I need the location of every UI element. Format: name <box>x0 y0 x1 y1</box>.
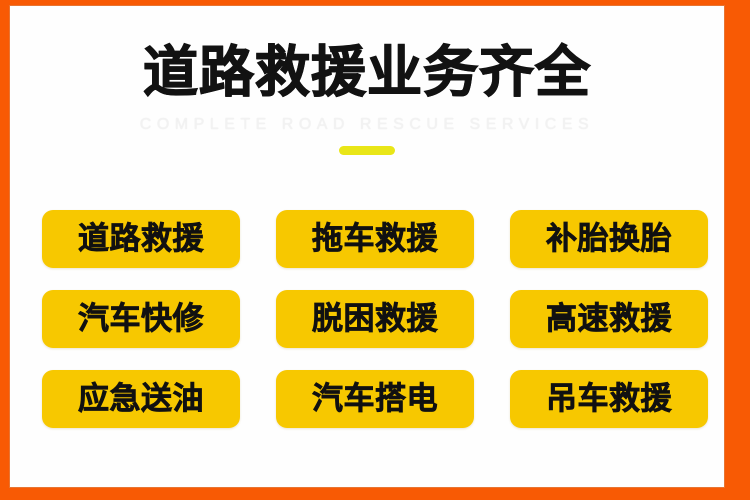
service-button-jump-start[interactable]: 汽车搭电 <box>276 370 474 428</box>
page-title: 道路救援业务齐全 <box>10 40 724 104</box>
service-button-road-rescue[interactable]: 道路救援 <box>42 210 240 268</box>
service-button-label: 补胎换胎 <box>546 222 672 256</box>
service-button-emergency-fuel[interactable]: 应急送油 <box>42 370 240 428</box>
service-button-tire-repair[interactable]: 补胎换胎 <box>510 210 708 268</box>
accent-bar-wrapper <box>10 146 724 155</box>
service-button-quick-repair[interactable]: 汽车快修 <box>42 290 240 348</box>
service-button-extrication-rescue[interactable]: 脱困救援 <box>276 290 474 348</box>
service-button-label: 道路救援 <box>78 222 204 256</box>
service-button-tow-rescue[interactable]: 拖车救援 <box>276 210 474 268</box>
page-subtitle: COMPLETE ROAD RESCUE SERVICES <box>10 116 724 134</box>
service-button-label: 应急送油 <box>78 382 204 416</box>
accent-underline <box>339 146 395 155</box>
header-block: 道路救援业务齐全 COMPLETE ROAD RESCUE SERVICES <box>10 40 724 155</box>
service-button-label: 汽车搭电 <box>312 382 438 416</box>
service-button-label: 拖车救援 <box>312 222 438 256</box>
service-button-crane-rescue[interactable]: 吊车救援 <box>510 370 708 428</box>
service-button-label: 高速救援 <box>546 302 672 336</box>
poster-canvas: 道路救援业务齐全 COMPLETE ROAD RESCUE SERVICES 道… <box>10 6 724 487</box>
service-grid: 道路救援 拖车救援 补胎换胎 汽车快修 脱困救援 高速救援 应急送油 汽车搭电 <box>42 210 708 428</box>
service-button-highway-rescue[interactable]: 高速救援 <box>510 290 708 348</box>
poster-root: 道路救援业务齐全 COMPLETE ROAD RESCUE SERVICES 道… <box>0 0 750 500</box>
service-button-label: 汽车快修 <box>78 302 204 336</box>
service-button-label: 吊车救援 <box>546 382 672 416</box>
service-button-label: 脱困救援 <box>312 302 438 336</box>
